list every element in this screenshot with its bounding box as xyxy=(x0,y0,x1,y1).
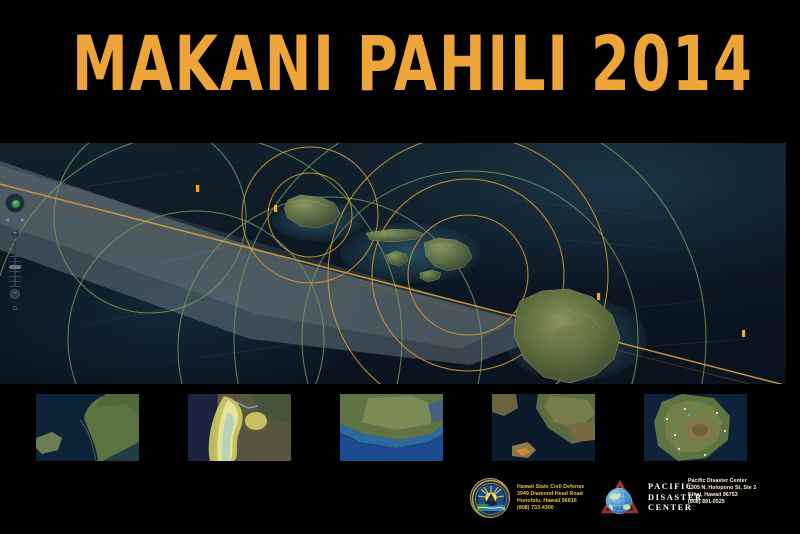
compass-rose-icon[interactable] xyxy=(5,193,25,213)
home-icon[interactable]: ⌂ xyxy=(10,303,20,312)
pdc-line-3: Kihei, Hawaii 96753 xyxy=(688,492,756,499)
thumbnail-5[interactable] xyxy=(644,394,747,461)
page-title: MAKANI PAHILI 2014 xyxy=(72,26,728,102)
footer: Hawaii State Civil Defense 3949 Diamond … xyxy=(0,466,800,534)
seal-artwork xyxy=(471,479,510,518)
hsdc-address: Hawaii State Civil Defense 3949 Diamond … xyxy=(517,484,584,512)
pdc-address: Pacific Disaster Center 1305 N. Holopono… xyxy=(688,478,756,506)
thumbnail-1[interactable] xyxy=(36,394,139,461)
hsdc-line-3: Honolulu, Hawaii 96816 xyxy=(517,498,584,505)
thumbnail-4[interactable] xyxy=(492,394,595,461)
forecast-overlay xyxy=(0,143,786,384)
thumbnail-4-image xyxy=(492,394,595,461)
pdc-line-2: 1305 N. Holopono St, Ste 2 xyxy=(688,485,756,492)
thumbnail-3[interactable] xyxy=(340,394,443,461)
hsdc-block: Hawaii State Civil Defense 3949 Diamond … xyxy=(470,478,584,518)
pan-left-icon[interactable]: ◂ xyxy=(5,215,9,224)
pdc-line-4: (808) 891-0525 xyxy=(688,499,756,506)
map-navigation-control[interactable]: ◂ ▸ + − ⌂ xyxy=(5,193,25,311)
hawaii-state-civil-defense-seal xyxy=(470,478,510,518)
zoom-out-button[interactable]: − xyxy=(10,289,20,299)
thumbnail-3-image xyxy=(340,394,443,461)
zoom-in-button[interactable]: + xyxy=(10,229,20,239)
thumbnail-strip xyxy=(0,386,800,466)
hsdc-line-4: (808) 733-4300 xyxy=(517,505,584,512)
pan-arrows[interactable]: ◂ ▸ xyxy=(5,215,25,226)
pdc-line-1: Pacific Disaster Center xyxy=(688,478,756,485)
thumbnail-2[interactable] xyxy=(188,394,291,461)
thumbnail-5-image xyxy=(644,394,747,461)
zoom-slider-ticks xyxy=(9,241,21,287)
pan-right-icon[interactable]: ▸ xyxy=(21,215,25,224)
pdc-address-block: Pacific Disaster Center 1305 N. Holopono… xyxy=(688,478,756,506)
hsdc-line-1: Hawaii State Civil Defense xyxy=(517,484,584,491)
poster-root: MAKANI PAHILI 2014 xyxy=(0,0,800,534)
pacific-disaster-center-logo xyxy=(600,479,644,517)
thumbnail-1-image xyxy=(36,394,139,461)
thumbnail-2-image xyxy=(188,394,291,461)
hsdc-line-2: 3949 Diamond Head Road xyxy=(517,491,584,498)
zoom-slider-thumb[interactable] xyxy=(9,265,21,269)
map-panel[interactable]: ◂ ▸ + − ⌂ xyxy=(0,143,786,384)
pdc-globe-icon xyxy=(600,479,644,517)
title-banner: MAKANI PAHILI 2014 xyxy=(0,0,800,141)
